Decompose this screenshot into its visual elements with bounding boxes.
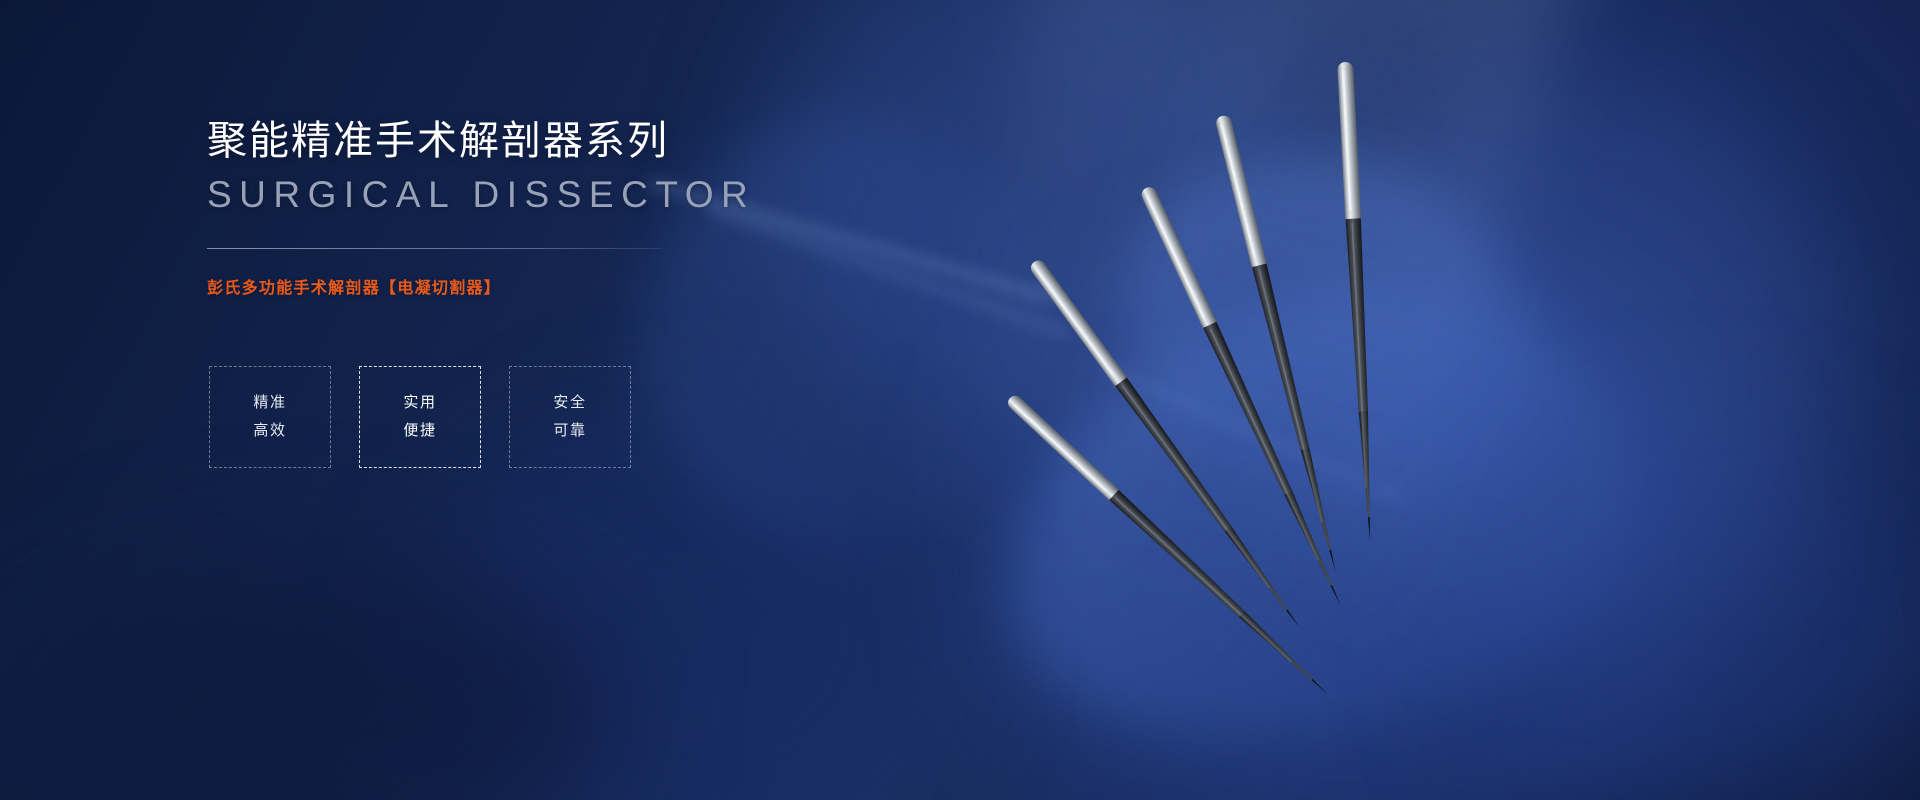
hero-banner: 聚能精准手术解剖器系列 SURGICAL DISSECTOR 彭氏多功能手术解剖…	[0, 0, 1920, 800]
feature-badge-line1: 精准	[253, 392, 286, 414]
background-instrument-streak	[1103, 363, 1408, 505]
background-gloved-hand-silhouette	[1080, 102, 1591, 549]
dissector-pen	[1139, 185, 1348, 609]
dissector-pen	[1028, 258, 1306, 632]
background-blur-blob	[1460, 430, 1920, 800]
hero-copy-block: 聚能精准手术解剖器系列 SURGICAL DISSECTOR 彭氏多功能手术解剖…	[207, 118, 967, 301]
feature-badge-line2: 便捷	[403, 420, 436, 442]
feature-badge-safety[interactable]: 安全 可靠	[509, 366, 631, 468]
light-beam	[934, 0, 1257, 591]
background-blur-blob	[980, 240, 1740, 800]
feature-badge-group: 精准 高效 实用 便捷 安全 可靠	[209, 366, 631, 468]
dissector-pen	[1337, 62, 1378, 541]
background-gloved-hand-silhouette	[962, 238, 1677, 792]
background-blur-blob	[430, 430, 950, 800]
dissector-pen	[1214, 114, 1343, 574]
light-beam	[1062, 0, 1627, 668]
page-title: 聚能精准手术解剖器系列	[207, 118, 967, 165]
feature-badge-precision[interactable]: 精准 高效	[209, 366, 331, 468]
feature-badge-line1: 安全	[553, 392, 586, 414]
dissector-pen	[1005, 393, 1332, 699]
page-subtitle-english: SURGICAL DISSECTOR	[207, 175, 967, 216]
divider	[207, 248, 662, 249]
background-blur-blob	[1320, 60, 1840, 620]
feature-badge-line2: 高效	[253, 420, 286, 442]
feature-badge-practical[interactable]: 实用 便捷	[359, 366, 481, 468]
feature-badge-line2: 可靠	[553, 420, 586, 442]
feature-badge-line1: 实用	[403, 392, 436, 414]
product-name-label: 彭氏多功能手术解剖器【电凝切割器】	[207, 277, 967, 301]
background-blur-blob	[0, 560, 620, 800]
